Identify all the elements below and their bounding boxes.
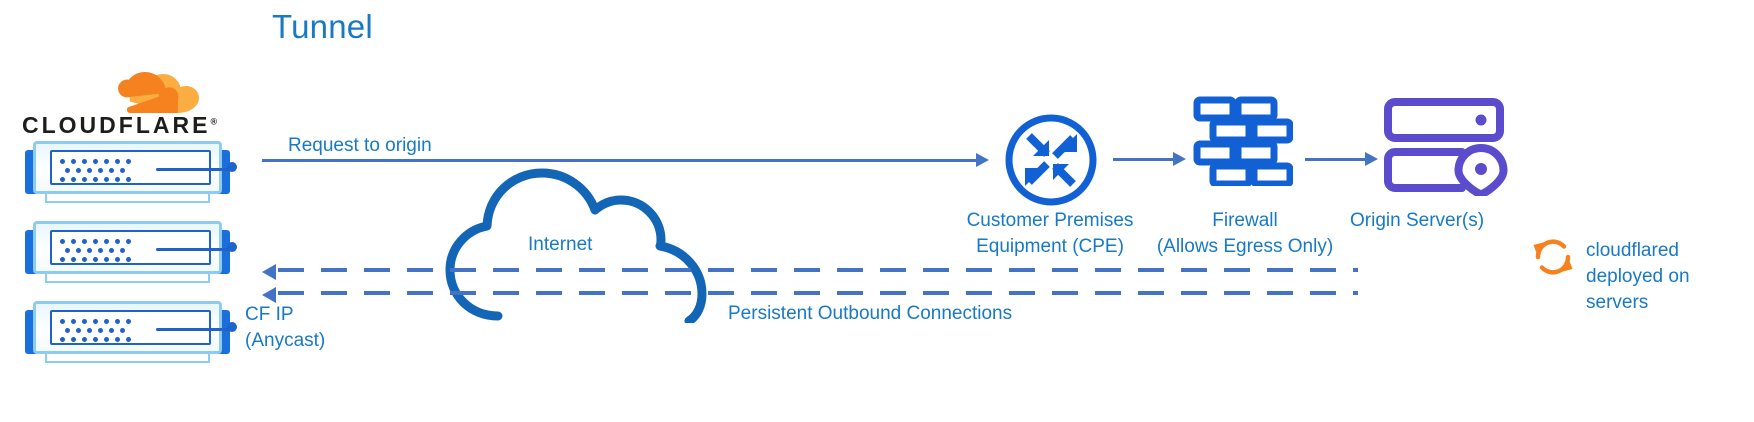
persistent-outbound-connections-label: Persistent Outbound Connections xyxy=(728,303,1012,325)
cf-ip-label: CF IP (Anycast) xyxy=(245,304,325,352)
page-title: Tunnel xyxy=(272,8,373,46)
tunnel-diagram: Tunnel CLOUDFLARE® xyxy=(0,0,1754,422)
cf-ip-label-line2: (Anycast) xyxy=(245,330,325,352)
cloudflare-wordmark-text: CLOUDFLARE xyxy=(22,112,210,138)
cloudflared-note: cloudflared deployed on servers xyxy=(1586,238,1751,316)
rack-led-indicator xyxy=(227,242,237,252)
rack-body xyxy=(33,221,222,274)
rack-led-indicator xyxy=(227,322,237,332)
rack-base xyxy=(45,354,210,363)
request-to-origin-label: Request to origin xyxy=(288,135,432,157)
cloudflare-cloud-icon xyxy=(104,72,200,114)
edge-server-rack-2 xyxy=(25,221,230,283)
converging-arrows-circle-icon xyxy=(1003,112,1099,208)
rack-led-indicator xyxy=(227,162,237,172)
cloud-shape-icon xyxy=(440,138,730,323)
cf-ip-label-line1: CF IP xyxy=(245,304,325,326)
firewall-label-line1: Firewall xyxy=(1120,208,1370,234)
outbound-connection-line-1 xyxy=(278,268,1358,272)
rack-base xyxy=(45,194,210,203)
rack-status-bar xyxy=(156,248,231,251)
request-to-origin-arrowhead xyxy=(976,153,989,167)
origin-server-label: Origin Server(s) xyxy=(1350,208,1550,234)
rack-vent-dots xyxy=(60,157,138,183)
firewall-label: Firewall (Allows Egress Only) xyxy=(1120,208,1370,260)
cpe-to-firewall-line xyxy=(1113,158,1175,161)
cloudflared-note-line3: servers xyxy=(1586,290,1751,316)
rack-base xyxy=(45,274,210,283)
rack-body xyxy=(33,301,222,354)
cpe-to-firewall-arrowhead xyxy=(1173,152,1186,166)
firewall-label-line2: (Allows Egress Only) xyxy=(1120,234,1370,260)
cloudflared-note-line2: deployed on xyxy=(1586,264,1751,290)
outbound-connection-arrowhead-1 xyxy=(262,264,276,280)
cloudflare-wordmark: CLOUDFLARE® xyxy=(22,112,232,139)
edge-server-rack-1 xyxy=(25,141,230,203)
trademark-symbol: ® xyxy=(210,116,220,126)
rack-status-bar xyxy=(156,328,231,331)
edge-server-rack-3 xyxy=(25,301,230,363)
rack-vent-dots xyxy=(60,237,138,263)
rack-vent-dots xyxy=(60,317,138,343)
rack-status-bar xyxy=(156,168,231,171)
brick-wall-icon xyxy=(1193,96,1293,186)
origin-server-label-line1: Origin Server(s) xyxy=(1350,208,1550,234)
rack-body xyxy=(33,141,222,194)
firewall-to-origin-arrowhead xyxy=(1365,152,1378,166)
circular-sync-arrows-icon xyxy=(1532,236,1574,278)
internet-label: Internet xyxy=(528,234,592,256)
server-with-location-pin-icon xyxy=(1383,96,1515,196)
cloudflared-note-line1: cloudflared xyxy=(1586,238,1751,264)
outbound-connection-arrowhead-2 xyxy=(262,287,276,303)
cloudflare-logo: CLOUDFLARE® xyxy=(22,72,232,138)
internet-cloud: Internet xyxy=(440,138,730,323)
firewall-to-origin-line xyxy=(1305,158,1367,161)
outbound-connection-line-2 xyxy=(278,291,1358,295)
